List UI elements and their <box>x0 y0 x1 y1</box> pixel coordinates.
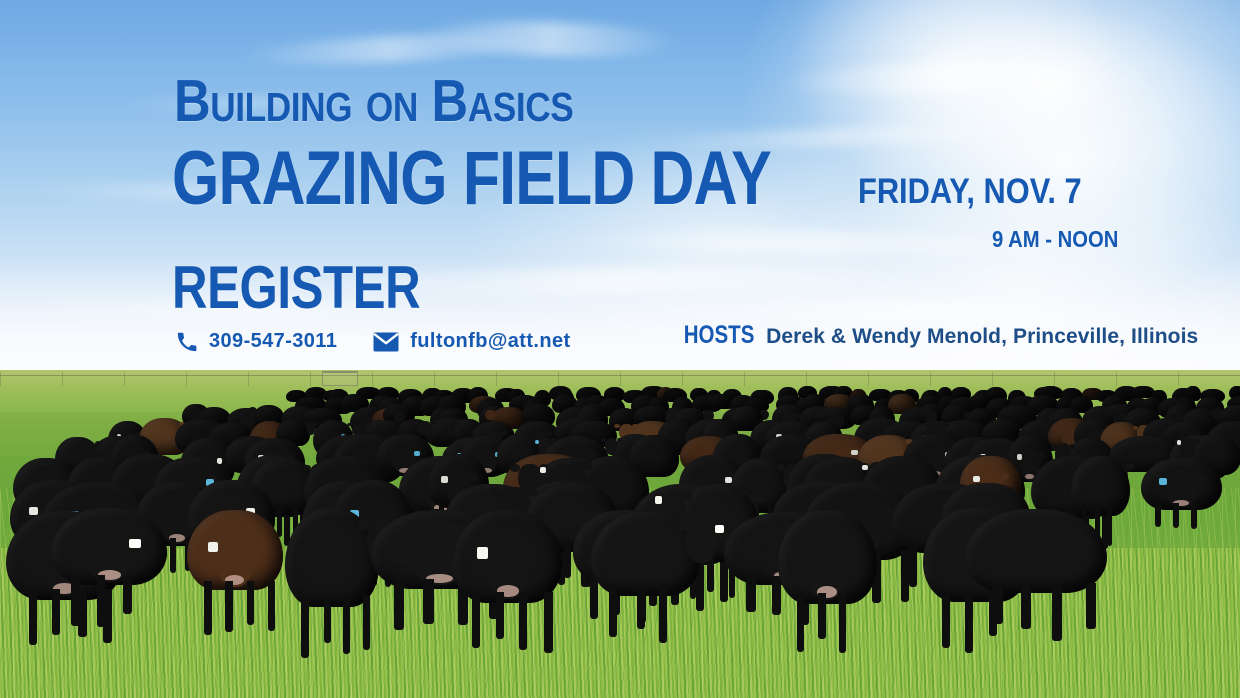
register-heading: REGISTER <box>172 258 420 318</box>
email-address: fultonfb@att.net <box>410 330 570 353</box>
event-date: FRIDAY, NOV. 7 <box>858 174 1082 209</box>
email-contact[interactable]: fultonfb@att.net <box>373 330 570 353</box>
headline-subtitle: Building on Basics <box>174 72 573 131</box>
headline-title: GRAZING FIELD DAY <box>172 141 771 217</box>
flyer-poster: Building on Basics GRAZING FIELD DAY REG… <box>0 0 1240 698</box>
event-time: 9 AM - NOON <box>992 228 1118 251</box>
phone-number: 309-547-3011 <box>209 330 337 353</box>
contact-row: 309-547-3011 fultonfb@att.net <box>176 330 607 353</box>
phone-icon <box>176 331 198 353</box>
poster-text-overlay: Building on Basics GRAZING FIELD DAY REG… <box>0 0 1240 698</box>
phone-contact[interactable]: 309-547-3011 <box>176 330 337 353</box>
hosts-names: Derek & Wendy Menold, Princeville, Illin… <box>766 325 1198 349</box>
hosts-label: HOSTS <box>684 321 755 350</box>
envelope-icon <box>373 332 399 352</box>
hosts-row: HOSTS Derek & Wendy Menold, Princeville,… <box>676 321 1198 350</box>
